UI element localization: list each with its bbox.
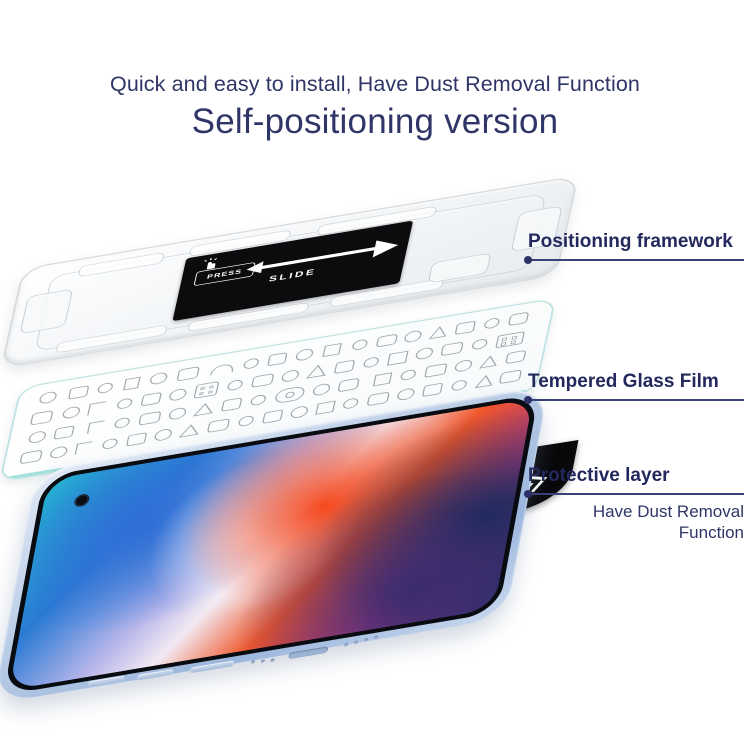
frame-press-text: PRESS: [206, 268, 242, 280]
phone-perspective-group: [0, 385, 549, 716]
callout-tempered-glass-film: Tempered Glass Film: [528, 372, 744, 401]
speaker-grille-dot: [364, 638, 369, 642]
front-camera-icon: [73, 493, 90, 508]
page-title: Self-positioning version: [0, 102, 750, 142]
charging-port: [288, 646, 329, 659]
arrow-head-right-icon: [373, 237, 400, 258]
callout-positioning-framework: Positioning framework: [528, 232, 744, 261]
speaker-grille-dot: [354, 640, 359, 644]
speaker-grille-dot: [374, 635, 379, 639]
callout-leader-line: [528, 399, 744, 401]
phone-screen-wallpaper: [9, 398, 533, 690]
callout-leader-line: [528, 493, 744, 495]
callout-protective-layer: Protective layer Have Dust Removal Funct…: [528, 466, 744, 543]
speaker-grille-dot: [344, 643, 349, 647]
callout-leader-line: [528, 259, 744, 261]
smartphone-device: [10, 400, 530, 700]
callout-label: Positioning framework: [528, 232, 744, 251]
arrow-shaft-icon: [254, 244, 391, 270]
callout-label: Tempered Glass Film: [528, 372, 744, 391]
speaker-grille-dot: [270, 658, 275, 662]
callout-dot: [524, 256, 532, 264]
frame-slide-text: SLIDE: [268, 267, 317, 284]
phone-bezel: [3, 393, 539, 695]
speaker-grille-dot: [261, 659, 266, 663]
phone-chassis: [0, 385, 549, 704]
speaker-grille-dot: [251, 660, 256, 664]
callout-sublabel: Have Dust Removal Function: [528, 502, 744, 543]
callout-label: Protective layer: [528, 466, 744, 485]
headline-subtitle: Quick and easy to install, Have Dust Rem…: [0, 72, 750, 97]
callout-dot: [524, 396, 532, 404]
callout-dot: [524, 490, 532, 498]
infographic-canvas: Quick and easy to install, Have Dust Rem…: [0, 0, 750, 750]
